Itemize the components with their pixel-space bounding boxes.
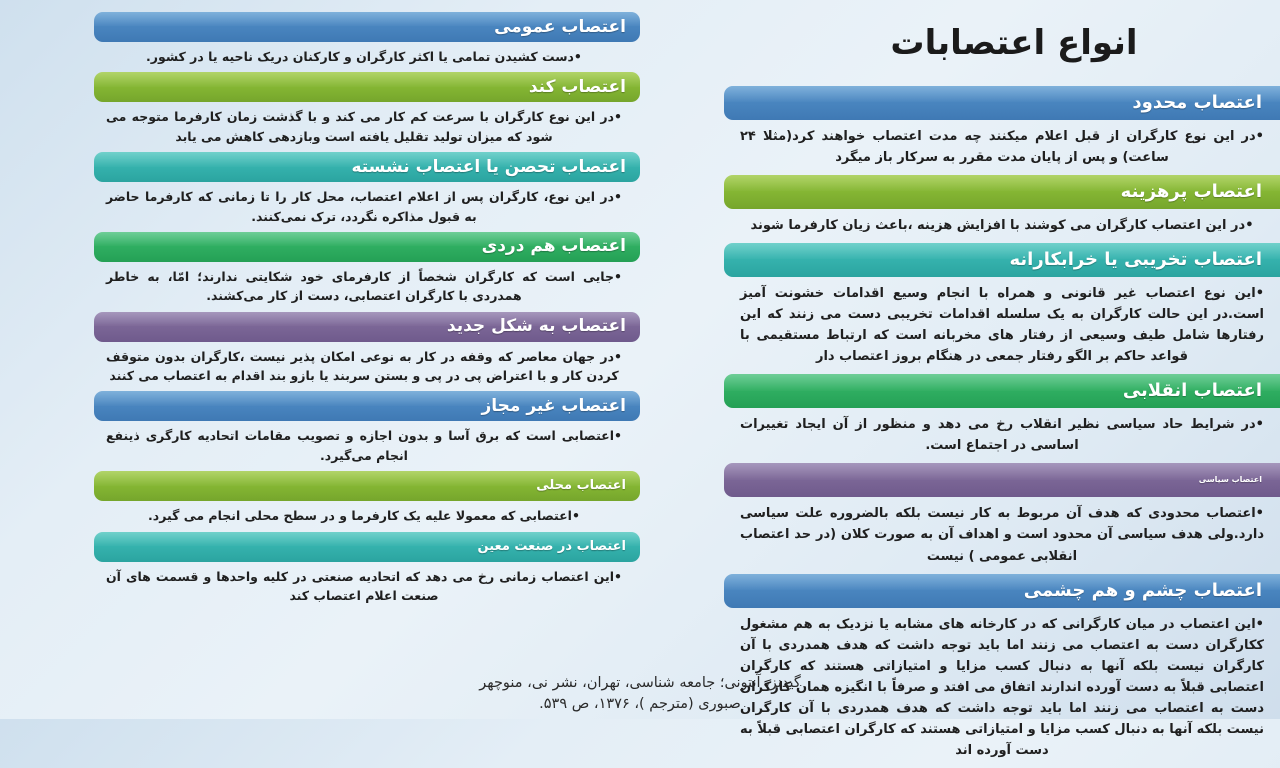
section-body-text: •در شرایط حاد سیاسی نظیر انقلاب رخ می ده… [724,408,1280,463]
section-body-text: •این اعتصاب زمانی رخ می دهد که اتحادیه ص… [80,562,640,612]
strike-entry: اعتصاب تحصن یا اعتصاب نشسته •در این نوع،… [80,152,640,232]
section-body-text: •در این نوع کارگران از قبل اعلام میکنند … [724,120,1280,175]
strike-entry: اعتصاب غیر مجاز •اعتصابی است که برق آسا … [80,391,640,471]
section-header-label: اعتصاب پرهزینه [1121,181,1262,202]
section-body-text: •این نوع اعتصاب غیر قانونی و همراه با ان… [724,277,1280,374]
section-header-label: اعتصاب غیر مجاز [481,396,626,416]
strike-entry: اعتصاب در صنعت معین •این اعتصاب زمانی رخ… [80,532,640,612]
strike-entry: اعتصاب هم دردی •جایی است که کارگران شخصا… [80,232,640,312]
strike-entry: اعتصاب پرهزینه •در این اعتصاب کارگران می… [724,175,1280,243]
section-header-new-form-strike[interactable]: اعتصاب به شکل جدید [94,312,640,342]
section-header-sympathy-strike[interactable]: اعتصاب هم دردی [94,232,640,262]
strike-entry: اعتصاب چشم و هم چشمی •این اعتصاب در میان… [724,574,1280,768]
citation-line-1: گیدنز، آنتونی؛ جامعه شناسی، تهران، نشر ن… [300,673,980,694]
section-body-text: •در این نوع کارگران با سرعت کم کار می کن… [80,102,640,152]
section-header-label: اعتصاب در صنعت معین [478,539,627,554]
citation: گیدنز، آنتونی؛ جامعه شناسی، تهران، نشر ن… [0,673,1280,715]
section-header-label: اعتصاب تحصن یا اعتصاب نشسته [351,157,626,177]
page-title: انواع اعتصابات [890,26,1137,60]
section-header-label: اعتصاب تخریبی یا خرابکارانه [1010,249,1263,270]
citation-line-2: صبوری (مترجم )، ۱۳۷۶، ص ۵۳۹. [300,694,980,715]
section-header-unauthorized-strike[interactable]: اعتصاب غیر مجاز [94,391,640,421]
section-header-label: اعتصاب محدود [1132,92,1262,113]
strike-entry: اعتصاب عمومی •دست کشیدن تمامی یا اکثر کا… [80,12,640,72]
section-body-text: •در این اعتصاب کارگران می کوشند با افزای… [724,209,1280,243]
section-header-label: اعتصاب کند [529,77,626,97]
strike-entry: اعتصاب محدود •در این نوع کارگران از قبل … [724,86,1280,175]
strike-entry: اعتصاب کند •در این نوع کارگران با سرعت ک… [80,72,640,152]
section-header-local-strike[interactable]: اعتصاب محلی [94,471,640,501]
section-header-limited-strike[interactable]: اعتصاب محدود [724,86,1280,120]
section-body-text: •اعتصابی است که برق آسا و بدون اجازه و ت… [80,421,640,471]
section-header-label: اعتصاب به شکل جدید [447,316,626,336]
section-header-label: اعتصاب سیاسی [1199,475,1262,484]
right-column: انواع اعتصابات اعتصاب محدود •در این نوع … [724,0,1280,768]
section-header-label: اعتصاب هم دردی [482,236,626,256]
section-header-label: اعتصاب چشم و هم چشمی [1024,580,1262,601]
section-body-text: •در این نوع، کارگران پس از اعلام اعتصاب،… [80,182,640,232]
strike-entry: اعتصاب تخریبی یا خرابکارانه •این نوع اعت… [724,243,1280,374]
section-header-sabotage-strike[interactable]: اعتصاب تخریبی یا خرابکارانه [724,243,1280,277]
left-column: اعتصاب عمومی •دست کشیدن تمامی یا اکثر کا… [80,0,640,611]
section-header-label: اعتصاب عمومی [494,17,626,37]
section-header-label: اعتصاب انقلابی [1123,380,1262,401]
section-body-text: •در جهان معاصر که وقفه در کار به نوعی ام… [80,342,640,392]
section-body-text: •جایی است که کارگران شخصاً از کارفرمای خ… [80,262,640,312]
section-header-industry-strike[interactable]: اعتصاب در صنعت معین [94,532,640,562]
section-header-rivalry-strike[interactable]: اعتصاب چشم و هم چشمی [724,574,1280,608]
strike-entry: اعتصاب سیاسی •اعتصاب محدودی که هدف آن مر… [724,463,1280,573]
section-header-political-strike[interactable]: اعتصاب سیاسی [724,463,1280,497]
slide-root: اعتصاب عمومی •دست کشیدن تمامی یا اکثر کا… [0,0,1280,719]
section-header-sitin-strike[interactable]: اعتصاب تحصن یا اعتصاب نشسته [94,152,640,182]
strike-entry: اعتصاب محلی •اعتصابی که معمولا علیه یک ک… [80,471,640,531]
section-body-text: •اعتصابی که معمولا علیه یک کارفرما و در … [80,501,640,531]
section-header-slow-strike[interactable]: اعتصاب کند [94,72,640,102]
section-body-text: •اعتصاب محدودی که هدف آن مربوط به کار نی… [724,497,1280,573]
strike-entry: اعتصاب به شکل جدید •در جهان معاصر که وقف… [80,312,640,392]
section-header-general-strike[interactable]: اعتصاب عمومی [94,12,640,42]
section-header-costly-strike[interactable]: اعتصاب پرهزینه [724,175,1280,209]
section-header-label: اعتصاب محلی [536,478,626,493]
section-body-text: •دست کشیدن تمامی یا اکثر کارگران و کارکن… [80,42,640,72]
section-header-revolutionary-strike[interactable]: اعتصاب انقلابی [724,374,1280,408]
strike-entry: اعتصاب انقلابی •در شرایط حاد سیاسی نظیر … [724,374,1280,463]
slide-title: انواع اعتصابات [724,0,1280,86]
